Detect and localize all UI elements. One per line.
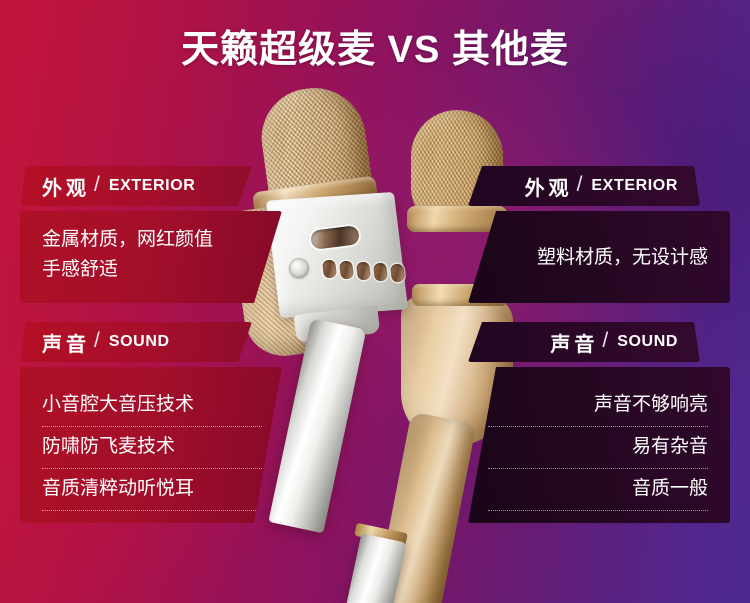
left-exterior-body: 金属材质，网红颜值 手感舒适	[20, 211, 282, 303]
left-group-sound: 声音 / SOUND 小音腔大音压技术 防啸防飞麦技术 音质清粹动听悦耳	[20, 322, 282, 523]
left-exterior-header: 外观 / EXTERIOR	[20, 166, 252, 206]
right-exterior-header-en: EXTERIOR	[591, 177, 678, 195]
left-sound-header: 声音 / SOUND	[20, 322, 252, 362]
left-exterior-line-1: 金属材质，网红颜值	[42, 225, 262, 255]
left-sound-item-3: 音质清粹动听悦耳	[42, 468, 262, 511]
right-exterior-header-slash: /	[577, 173, 583, 197]
right-exterior-header: 外观 / EXTERIOR	[468, 166, 700, 206]
right-sound-item-3: 音质一般	[488, 468, 708, 511]
control-button-2	[339, 260, 354, 279]
right-sound-item-1: 声音不够响亮	[488, 385, 708, 426]
right-sound-header-slash: /	[602, 329, 608, 353]
right-group-sound: 声音 / SOUND 声音不够响亮 易有杂音 音质一般	[468, 322, 730, 523]
right-sound-item-2: 易有杂音	[488, 426, 708, 468]
control-button-4	[373, 262, 388, 281]
left-sound-item-1: 小音腔大音压技术	[42, 385, 262, 426]
infographic-canvas: 天籁超级麦 VS 其他麦 外观 / EXTERIOR 金属材质，网红颜值	[0, 0, 750, 603]
right-exterior-line-1: 塑料材质，无设计感	[537, 243, 708, 273]
right-group-exterior: 外观 / EXTERIOR 塑料材质，无设计感	[468, 166, 730, 303]
left-exterior-header-slash: /	[94, 173, 100, 197]
left-sound-body: 小音腔大音压技术 防啸防飞麦技术 音质清粹动听悦耳	[20, 367, 282, 523]
left-sound-item-2: 防啸防飞麦技术	[42, 426, 262, 468]
right-sound-header-en: SOUND	[617, 333, 678, 351]
control-button-5	[390, 263, 405, 282]
right-sound-header-cn: 声音	[550, 328, 598, 357]
left-group-exterior: 外观 / EXTERIOR 金属材质，网红颜值 手感舒适	[20, 166, 282, 303]
left-sound-header-en: SOUND	[109, 333, 170, 351]
left-sound-header-cn: 声音	[42, 328, 90, 357]
left-exterior-line-2: 手感舒适	[42, 255, 262, 285]
right-sound-header: 声音 / SOUND	[468, 322, 700, 362]
page-title: 天籁超级麦 VS 其他麦	[0, 18, 750, 73]
left-exterior-header-en: EXTERIOR	[109, 177, 196, 195]
control-panel	[266, 192, 408, 318]
left-exterior-header-cn: 外观	[42, 172, 90, 201]
right-exterior-body: 塑料材质，无设计感	[468, 211, 730, 303]
control-button-1	[322, 259, 337, 278]
right-exterior-header-cn: 外观	[525, 172, 573, 201]
right-sound-body: 声音不够响亮 易有杂音 音质一般	[468, 367, 730, 523]
control-button-3	[356, 261, 371, 280]
left-sound-header-slash: /	[94, 329, 100, 353]
